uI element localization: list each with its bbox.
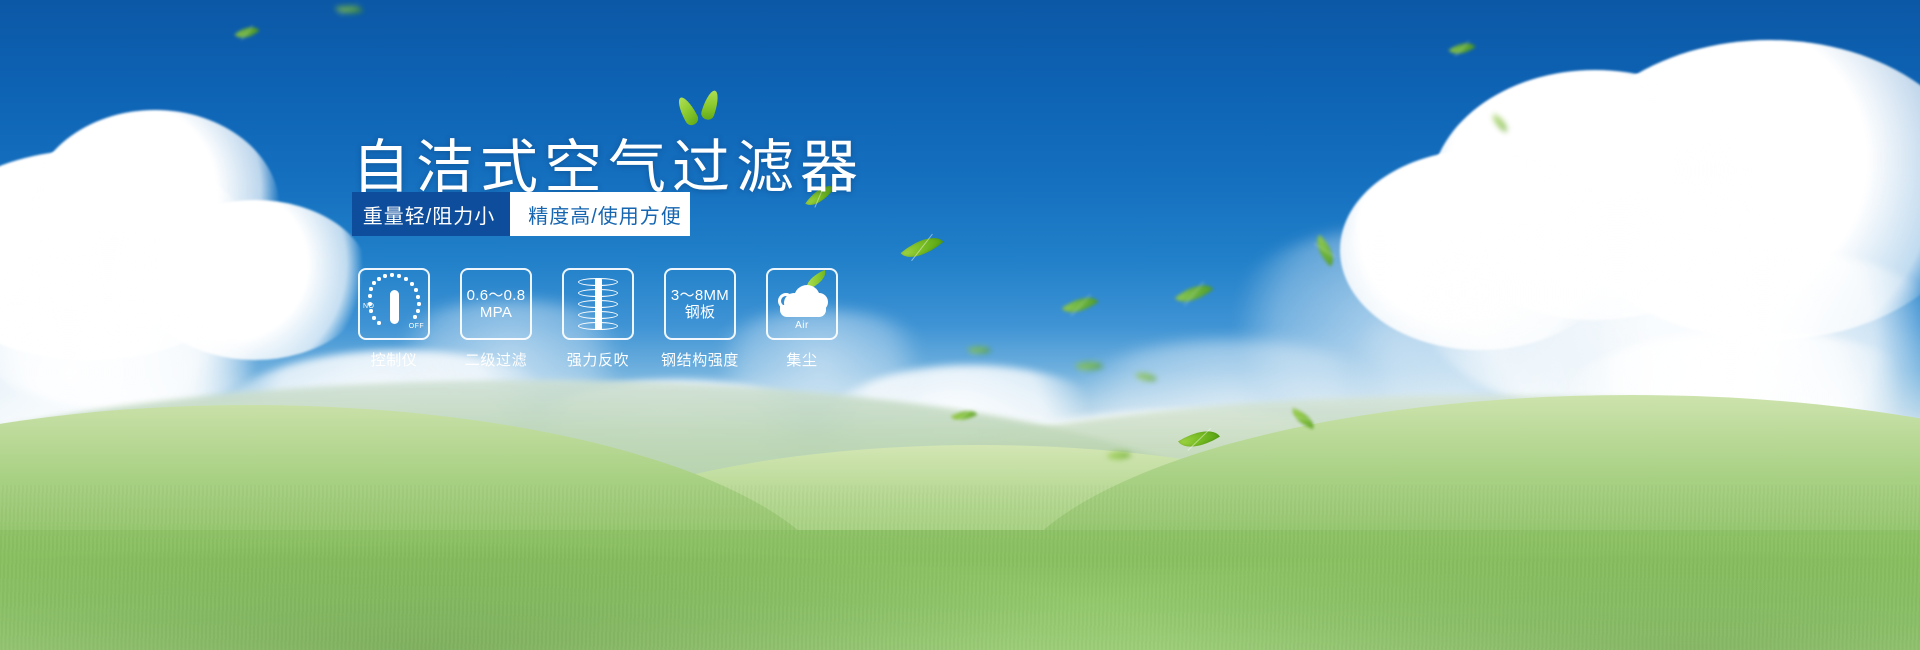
leaf-icon xyxy=(700,89,722,122)
hero-banner: 自洁式空气过滤器 重量轻/阻力小 精度高/使用方便 xyxy=(0,0,1920,650)
gauge-icon: NO OFF xyxy=(365,277,423,331)
banner-tag-secondary-label: 精度高/使用方便 xyxy=(528,200,682,229)
feature-icon-box: 0.6～0.8 MPA xyxy=(460,268,532,340)
feature-item-pressure: 0.6～0.8 MPA 二级过滤 xyxy=(460,268,532,370)
banner-tag-primary-label: 重量轻/阻力小 xyxy=(363,200,496,229)
air-cloud-icon: Air xyxy=(774,279,830,329)
gauge-off-label: OFF xyxy=(409,323,424,330)
feature-icon-box: NO OFF xyxy=(358,268,430,340)
feature-icon-box: Air xyxy=(766,268,838,340)
banner-tag-secondary: 精度高/使用方便 xyxy=(510,192,690,236)
feature-label: 控制仪 xyxy=(371,349,418,370)
banner-tag-primary: 重量轻/阻力小 xyxy=(352,192,510,236)
feature-label: 集尘 xyxy=(786,349,817,370)
steel-material: 钢板 xyxy=(671,304,729,321)
feature-item-control-gauge: NO OFF 控制仪 xyxy=(358,268,430,370)
banner-tag-group: 重量轻/阻力小 精度高/使用方便 xyxy=(352,192,690,236)
feature-item-steel: 3～8MM 钢板 钢结构强度 xyxy=(664,268,736,370)
swirl-shape xyxy=(778,293,794,309)
feature-item-dust: Air 集尘 xyxy=(766,268,838,370)
feature-label: 强力反吹 xyxy=(567,349,629,370)
feature-label: 二级过滤 xyxy=(465,349,527,370)
feature-item-backblow: 强力反吹 xyxy=(562,268,634,370)
pressure-icon: 0.6～0.8 MPA xyxy=(467,287,526,322)
steel-plate-icon: 3～8MM 钢板 xyxy=(671,287,729,322)
pressure-unit: MPA xyxy=(467,304,526,321)
banner-content: 自洁式空气过滤器 重量轻/阻力小 精度高/使用方便 xyxy=(0,0,1920,650)
pressure-value: 0.6～0.8 xyxy=(467,287,526,304)
gauge-needle xyxy=(390,290,399,324)
feature-label: 钢结构强度 xyxy=(661,349,739,370)
gauge-no-label: NO xyxy=(363,303,374,310)
steel-thickness: 3～8MM xyxy=(671,287,729,304)
air-label: Air xyxy=(774,320,830,331)
feature-icon-box: 3～8MM 钢板 xyxy=(664,268,736,340)
feature-icon-row: NO OFF 控制仪 0.6～0.8 MPA 二级过滤 xyxy=(358,268,838,370)
filter-coil-icon xyxy=(575,276,621,332)
feature-icon-box xyxy=(562,268,634,340)
